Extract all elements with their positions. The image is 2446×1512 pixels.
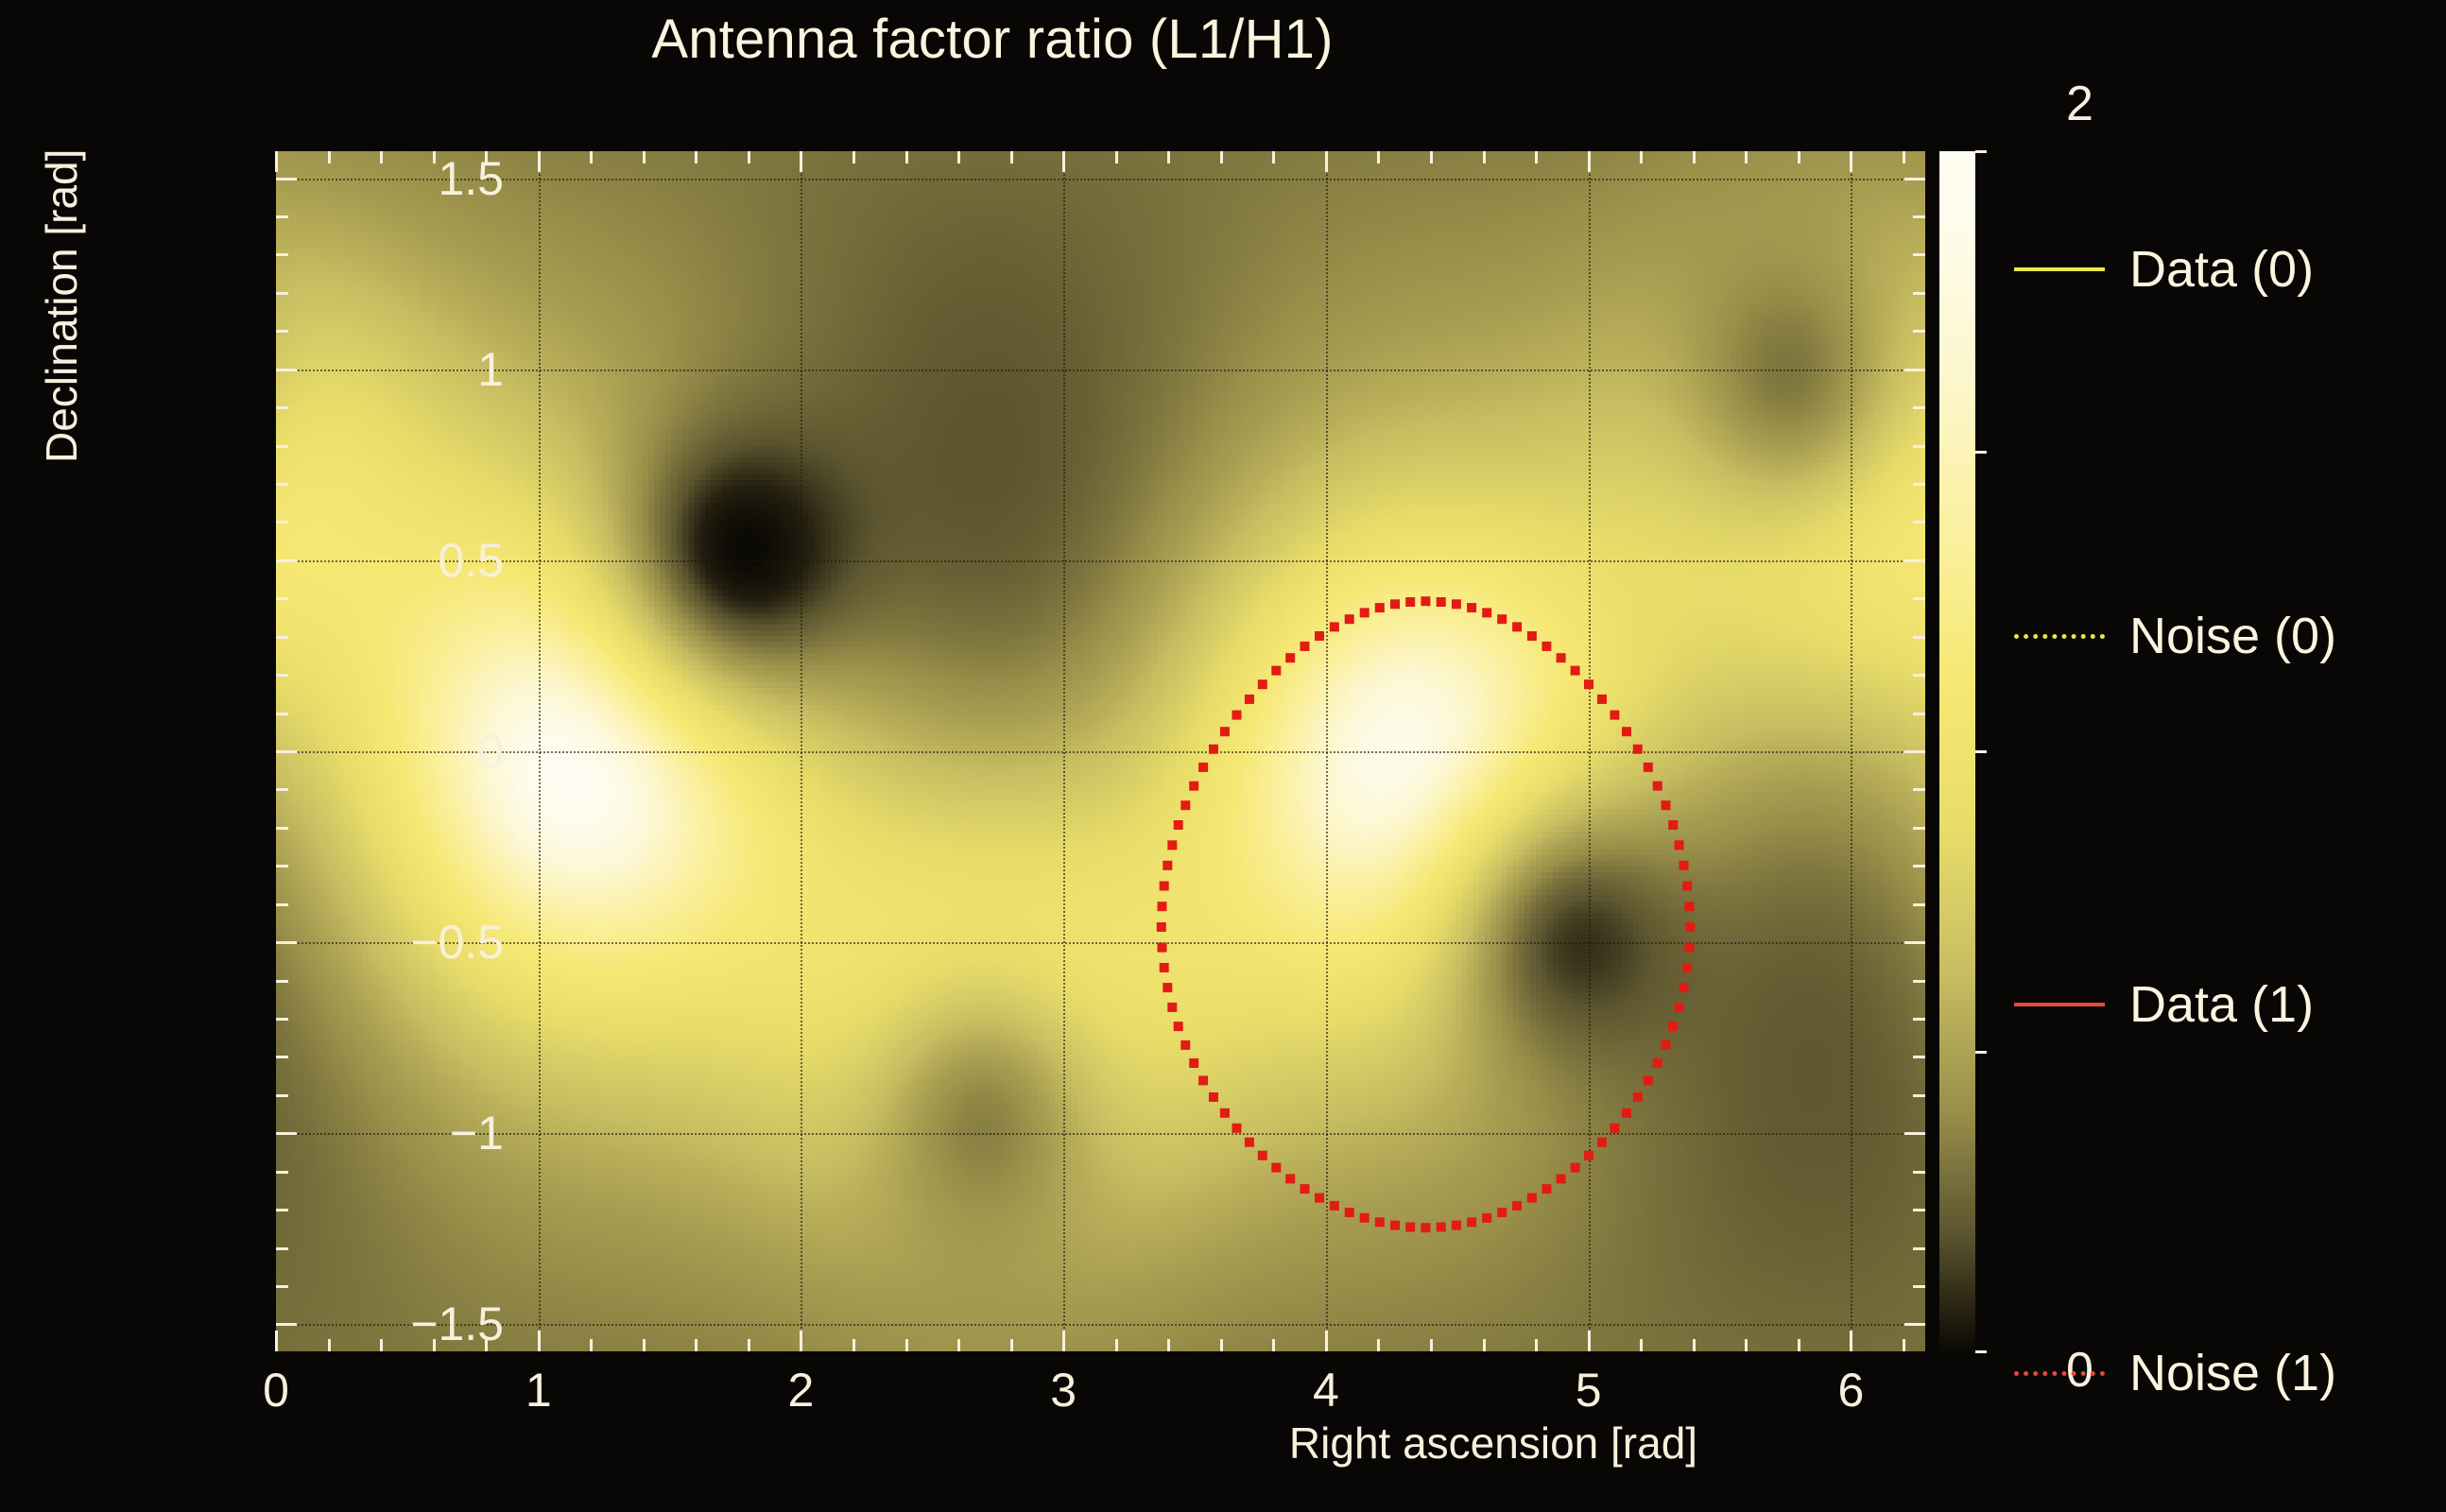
legend-line-marker: [2014, 267, 2105, 271]
contour-dot: [1232, 1124, 1242, 1133]
contour-dot: [1160, 882, 1169, 891]
contour-dot: [1571, 1163, 1580, 1173]
legend-label: Noise (1): [2129, 1344, 2336, 1402]
y-tick-minor: [276, 1018, 288, 1021]
contour-dot: [1315, 631, 1324, 641]
contour-dot: [1167, 840, 1177, 850]
x-tick-minor-top: [748, 151, 750, 163]
y-tick-major-right: [1904, 750, 1925, 753]
contour-dot: [1189, 1058, 1198, 1068]
contour-dot: [1189, 782, 1198, 791]
x-tick-minor-top: [1167, 151, 1170, 163]
x-tick-major-top: [1850, 151, 1852, 172]
contour-dot: [1158, 902, 1167, 911]
contour-dot: [1245, 695, 1254, 704]
contour-dot: [1682, 882, 1692, 891]
x-tick-label: 6: [1837, 1363, 1864, 1417]
contour-dot: [1157, 922, 1166, 932]
colorbar-tick: [1975, 1350, 1987, 1353]
contour-dot: [1258, 1151, 1267, 1160]
y-tick-minor: [276, 1285, 288, 1288]
contour-dot: [1345, 1208, 1354, 1217]
contour-dot: [1482, 1213, 1491, 1223]
y-tick-minor: [276, 636, 288, 639]
legend-entry-noise-1[interactable]: Noise (1): [2008, 1335, 2446, 1411]
y-tick-minor: [276, 980, 288, 983]
y-tick-minor-right: [1913, 1285, 1925, 1288]
x-tick-minor-top: [853, 151, 855, 163]
y-tick-minor-right: [1913, 445, 1925, 448]
contour-dot: [1220, 727, 1230, 736]
y-tick-minor-right: [1913, 980, 1925, 983]
x-tick-minor: [1377, 1339, 1380, 1351]
contour-dot: [1167, 1003, 1177, 1012]
x-tick-minor-top: [1798, 151, 1800, 163]
contour-curve-data1: [276, 151, 1925, 1351]
contour-dot: [1163, 983, 1172, 992]
y-tick-minor: [276, 827, 288, 830]
heatmap-plot-area: [276, 151, 1925, 1351]
x-tick-minor: [1010, 1339, 1013, 1351]
colorbar-tick: [1975, 750, 1987, 753]
legend: Data (0)Noise (0)Data (1)Noise (1): [2008, 232, 2446, 1337]
contour-dot: [1375, 1217, 1385, 1227]
contour-dot: [1597, 1138, 1607, 1147]
contour-dot: [1644, 1075, 1653, 1085]
contour-dot: [1685, 922, 1695, 932]
x-tick-minor-top: [695, 151, 698, 163]
x-tick-minor-top: [957, 151, 960, 163]
contour-dot: [1675, 840, 1684, 850]
contour-dot: [1421, 1223, 1430, 1232]
x-tick-major: [1325, 1331, 1328, 1351]
y-tick-label: −1: [450, 1106, 504, 1160]
x-tick-minor: [1693, 1339, 1696, 1351]
figure-canvas: Antenna factor ratio (L1/H1) Declination…: [0, 0, 2446, 1512]
contour-dot: [1360, 608, 1369, 617]
x-tick-major-top: [800, 151, 802, 172]
x-tick-minor-top: [1220, 151, 1223, 163]
y-tick-label: 0.5: [438, 533, 504, 588]
contour-dot: [1220, 1108, 1230, 1118]
x-tick-minor-top: [1010, 151, 1013, 163]
y-tick-minor: [276, 253, 288, 256]
contour-dot: [1684, 902, 1694, 911]
x-tick-minor: [1798, 1339, 1800, 1351]
x-tick-major: [800, 1331, 802, 1351]
y-tick-minor-right: [1913, 1247, 1925, 1250]
contour-dot: [1421, 596, 1430, 606]
contour-dot: [1174, 1022, 1183, 1031]
y-tick-minor-right: [1913, 597, 1925, 600]
contour-dot: [1668, 820, 1678, 830]
x-tick-minor: [1745, 1339, 1748, 1351]
x-tick-minor-top: [590, 151, 593, 163]
legend-entry-noise-0[interactable]: Noise (0): [2008, 598, 2446, 674]
x-tick-minor: [1430, 1339, 1433, 1351]
legend-entry-data-0[interactable]: Data (0): [2008, 232, 2446, 307]
x-tick-major: [1850, 1331, 1852, 1351]
x-tick-major-top: [275, 151, 278, 172]
x-tick-minor-top: [1535, 151, 1538, 163]
x-tick-minor: [643, 1339, 646, 1351]
x-tick-label: 4: [1313, 1363, 1339, 1417]
y-tick-minor: [276, 1209, 288, 1211]
contour-dot: [1452, 1221, 1461, 1230]
x-tick-minor: [1903, 1339, 1905, 1351]
y-tick-minor-right: [1913, 406, 1925, 409]
x-tick-major-top: [538, 151, 541, 172]
x-tick-minor: [748, 1339, 750, 1351]
x-tick-minor: [1220, 1339, 1223, 1351]
y-tick-minor: [276, 597, 288, 600]
contour-dot: [1467, 1217, 1476, 1227]
y-tick-minor: [276, 330, 288, 333]
contour-dot: [1452, 599, 1461, 609]
contour-dot: [1633, 1092, 1643, 1102]
y-tick-minor-right: [1913, 865, 1925, 868]
contour-dot: [1271, 666, 1281, 676]
contour-dot: [1675, 1003, 1684, 1012]
contour-dot: [1662, 800, 1671, 810]
contour-dot: [1497, 614, 1507, 624]
y-tick-minor: [276, 215, 288, 218]
contour-dot: [1622, 1108, 1631, 1118]
y-tick-minor: [276, 445, 288, 448]
y-tick-minor-right: [1913, 330, 1925, 333]
y-tick-minor-right: [1913, 636, 1925, 639]
contour-dot: [1198, 1075, 1208, 1085]
contour-dot: [1679, 861, 1689, 870]
legend-label: Noise (0): [2129, 607, 2336, 665]
contour-dot: [1584, 1151, 1593, 1160]
y-tick-minor: [276, 292, 288, 295]
y-tick-minor: [276, 1056, 288, 1058]
y-tick-major: [276, 750, 297, 753]
x-tick-minor-top: [1483, 151, 1486, 163]
contour-dot: [1597, 695, 1607, 704]
colorbar-label-clip-top: [2023, 129, 2446, 168]
contour-dot: [1682, 963, 1692, 972]
x-tick-label: 5: [1576, 1363, 1602, 1417]
y-tick-minor-right: [1913, 713, 1925, 715]
contour-dot: [1644, 763, 1653, 772]
y-tick-minor: [276, 903, 288, 906]
legend-entry-data-1[interactable]: Data (1): [2008, 967, 2446, 1042]
contour-dot: [1285, 1174, 1295, 1183]
contour-dot: [1467, 603, 1476, 612]
x-tick-minor: [695, 1339, 698, 1351]
x-axis-title: Right ascension [rad]: [1289, 1417, 1697, 1469]
x-tick-minor-top: [1115, 151, 1118, 163]
contour-dot: [1557, 1174, 1566, 1183]
legend-line-marker: [2014, 634, 2105, 639]
x-tick-major: [275, 1331, 278, 1351]
colorbar-tick: [1975, 451, 1987, 454]
contour-dot: [1633, 745, 1643, 754]
x-tick-minor: [1167, 1339, 1170, 1351]
contour-dot: [1662, 1040, 1671, 1050]
contour-dot: [1245, 1138, 1254, 1147]
x-tick-minor: [1640, 1339, 1643, 1351]
y-tick-label: 1.5: [438, 151, 504, 206]
x-tick-minor-top: [905, 151, 908, 163]
x-tick-label: 3: [1050, 1363, 1077, 1417]
x-tick-minor: [1535, 1339, 1538, 1351]
contour-dot: [1390, 599, 1400, 609]
contour-dot: [1557, 653, 1566, 662]
y-tick-major: [276, 1323, 297, 1326]
x-tick-label: 0: [263, 1363, 289, 1417]
x-tick-minor-top: [1903, 151, 1905, 163]
y-tick-minor-right: [1913, 1171, 1925, 1174]
y-tick-minor-right: [1913, 1056, 1925, 1058]
x-tick-label: 2: [788, 1363, 815, 1417]
contour-dot: [1571, 666, 1580, 676]
y-tick-minor-right: [1913, 1094, 1925, 1097]
y-tick-minor: [276, 788, 288, 791]
x-tick-minor-top: [433, 151, 436, 163]
y-tick-major-right: [1904, 178, 1925, 180]
contour-dot: [1209, 745, 1218, 754]
colorbar: [1939, 151, 1975, 1351]
y-tick-minor-right: [1913, 1018, 1925, 1021]
y-tick-label: −0.5: [410, 915, 504, 970]
x-tick-minor: [1483, 1339, 1486, 1351]
y-tick-major: [276, 559, 297, 562]
contour-dot: [1232, 711, 1242, 720]
y-tick-minor: [276, 713, 288, 715]
contour-dot: [1684, 943, 1694, 953]
y-tick-minor-right: [1913, 903, 1925, 906]
colorbar-max-label: 2: [2066, 76, 2093, 132]
contour-dot: [1653, 782, 1662, 791]
contour-dot: [1610, 711, 1619, 720]
y-tick-minor-right: [1913, 521, 1925, 524]
contour-dot: [1512, 622, 1522, 631]
x-tick-minor-top: [1640, 151, 1643, 163]
x-tick-major: [538, 1331, 541, 1351]
x-tick-minor: [1272, 1339, 1275, 1351]
y-tick-major: [276, 941, 297, 944]
contour-dot: [1584, 679, 1593, 689]
x-tick-minor-top: [1745, 151, 1748, 163]
x-tick-major: [1062, 1331, 1065, 1351]
contour-dot: [1174, 820, 1183, 830]
y-tick-major-right: [1904, 559, 1925, 562]
y-tick-minor-right: [1913, 827, 1925, 830]
contour-dot: [1405, 597, 1415, 607]
contour-dot: [1542, 642, 1551, 651]
y-tick-minor-right: [1913, 292, 1925, 295]
x-tick-minor: [957, 1339, 960, 1351]
y-tick-minor: [276, 674, 288, 677]
contour-dot: [1527, 1194, 1537, 1203]
contour-dot: [1482, 608, 1491, 617]
contour-dot: [1360, 1213, 1369, 1223]
contour-dot: [1668, 1022, 1678, 1031]
contour-dot: [1330, 1201, 1339, 1211]
y-tick-minor: [276, 1247, 288, 1250]
y-tick-minor-right: [1913, 788, 1925, 791]
x-tick-minor-top: [1430, 151, 1433, 163]
x-tick-major-top: [1588, 151, 1591, 172]
figure-title: Antenna factor ratio (L1/H1): [0, 8, 1985, 71]
x-tick-minor-top: [1377, 151, 1380, 163]
contour-dot: [1437, 1223, 1446, 1232]
y-tick-minor: [276, 1094, 288, 1097]
y-tick-major-right: [1904, 369, 1925, 371]
legend-line-marker: [2014, 1371, 2105, 1376]
y-tick-minor: [276, 406, 288, 409]
contour-dot: [1512, 1201, 1522, 1211]
contour-dot: [1527, 631, 1537, 641]
x-tick-label: 1: [525, 1363, 552, 1417]
x-tick-minor: [590, 1339, 593, 1351]
contour-dot: [1301, 1184, 1310, 1194]
contour-dot: [1180, 800, 1190, 810]
y-tick-major: [276, 1132, 297, 1135]
contour-dot: [1653, 1058, 1662, 1068]
y-tick-label: 1: [477, 342, 504, 397]
x-tick-minor-top: [328, 151, 331, 163]
contour-dot: [1209, 1092, 1218, 1102]
legend-label: Data (0): [2129, 240, 2314, 299]
contour-dot: [1610, 1124, 1619, 1133]
y-tick-label: −1.5: [410, 1297, 504, 1351]
contour-dot: [1330, 622, 1339, 631]
x-tick-minor: [905, 1339, 908, 1351]
y-tick-major: [276, 369, 297, 371]
x-tick-minor-top: [1272, 151, 1275, 163]
x-tick-minor: [853, 1339, 855, 1351]
x-tick-minor-top: [380, 151, 383, 163]
contour-dot: [1315, 1194, 1324, 1203]
colorbar-tick: [1975, 1051, 1987, 1054]
x-tick-minor: [380, 1339, 383, 1351]
y-tick-major-right: [1904, 941, 1925, 944]
contour-dot: [1437, 597, 1446, 607]
y-tick-minor: [276, 865, 288, 868]
contour-dot: [1271, 1163, 1281, 1173]
contour-dot: [1542, 1184, 1551, 1194]
y-tick-minor: [276, 521, 288, 524]
x-tick-major-top: [1062, 151, 1065, 172]
x-tick-minor-top: [1693, 151, 1696, 163]
y-tick-minor: [276, 483, 288, 486]
contour-dot: [1180, 1040, 1190, 1050]
contour-dot: [1158, 943, 1167, 953]
contour-dot: [1375, 603, 1385, 612]
y-axis-title: Declination [rad]: [36, 149, 87, 463]
y-tick-minor-right: [1913, 1209, 1925, 1211]
contour-dot: [1679, 983, 1689, 992]
contour-dot: [1160, 963, 1169, 972]
x-tick-minor-top: [643, 151, 646, 163]
contour-dot: [1285, 653, 1295, 662]
x-tick-major: [1588, 1331, 1591, 1351]
y-tick-minor-right: [1913, 215, 1925, 218]
x-tick-major-top: [1325, 151, 1328, 172]
y-tick-minor-right: [1913, 674, 1925, 677]
legend-line-marker: [2014, 1003, 2105, 1006]
contour-dot: [1390, 1221, 1400, 1230]
y-tick-label: 0: [477, 724, 504, 779]
contour-dot: [1622, 727, 1631, 736]
y-tick-minor: [276, 1171, 288, 1174]
y-tick-major: [276, 178, 297, 180]
contour-dot: [1345, 614, 1354, 624]
colorbar-tick: [1975, 150, 1987, 153]
contour-dot: [1258, 679, 1267, 689]
x-tick-minor: [1115, 1339, 1118, 1351]
x-tick-minor: [328, 1339, 331, 1351]
y-tick-minor-right: [1913, 483, 1925, 486]
y-tick-minor-right: [1913, 253, 1925, 256]
contour-dot: [1163, 861, 1172, 870]
y-tick-major-right: [1904, 1132, 1925, 1135]
legend-label: Data (1): [2129, 975, 2314, 1034]
contour-dot: [1301, 642, 1310, 651]
contour-dot: [1497, 1208, 1507, 1217]
contour-dot: [1198, 763, 1208, 772]
y-tick-major-right: [1904, 1323, 1925, 1326]
contour-dot: [1405, 1223, 1415, 1232]
